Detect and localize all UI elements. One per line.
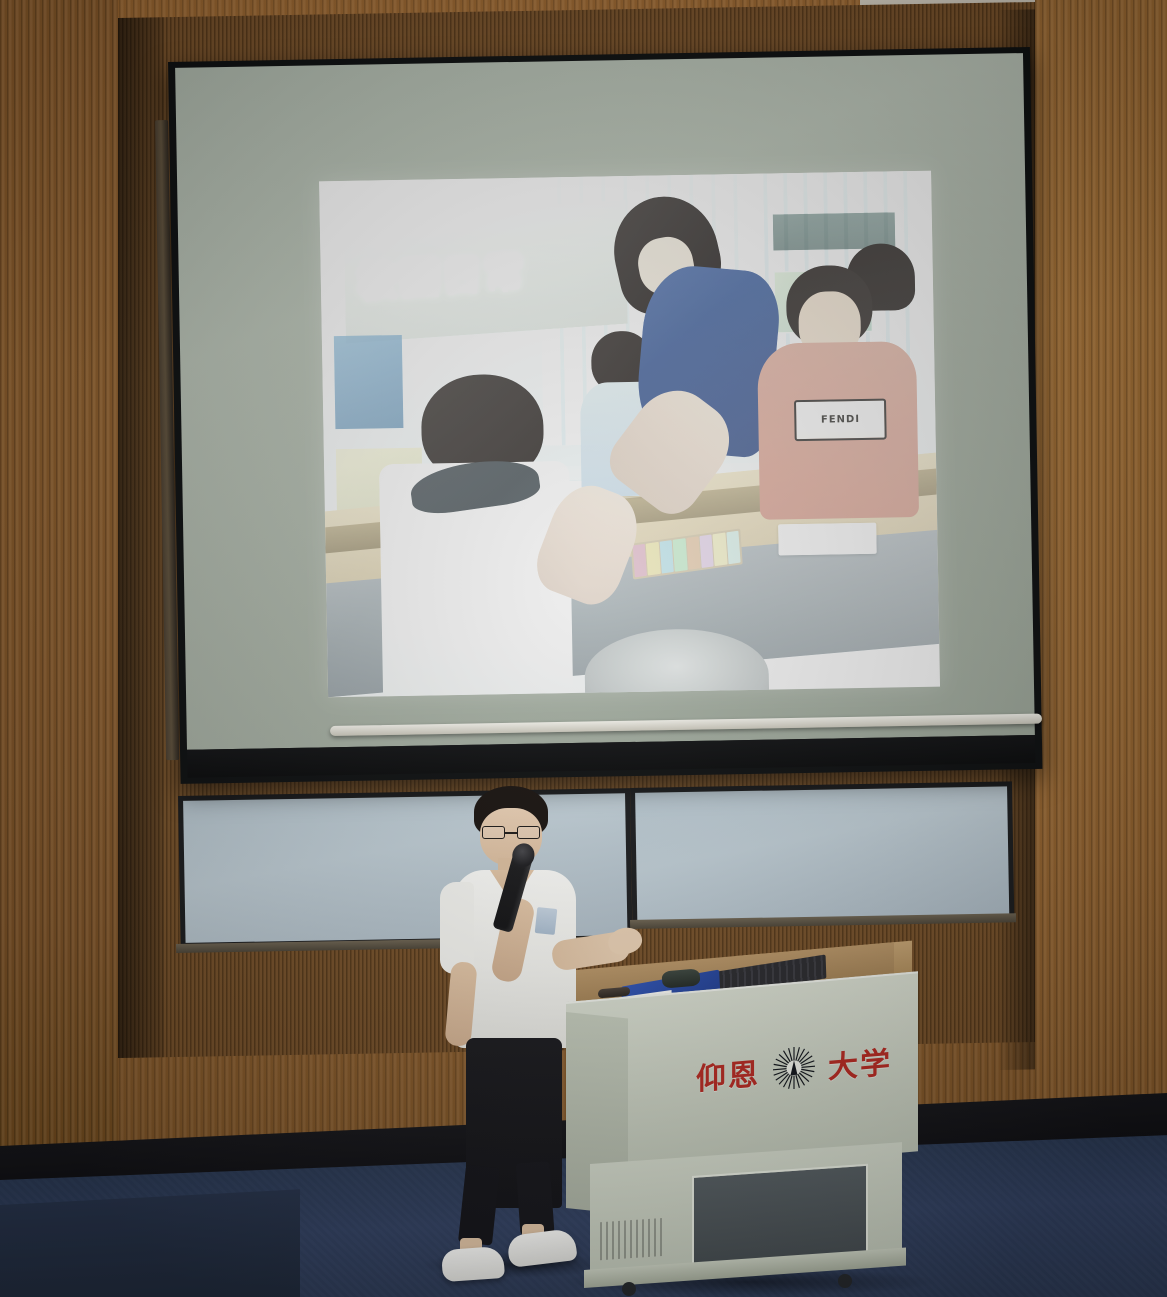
presenter-shoe-left [441,1246,505,1282]
podium: 仰恩 [566,952,918,1297]
screen-surface: 校园日常 [175,53,1035,750]
presenter-sleeve-left [440,882,474,974]
projection-screen: 校园日常 [168,47,1042,784]
university-name-left: 仰恩 [696,1049,760,1099]
whiteboard-right [630,781,1014,926]
wall-right-return [1035,0,1167,1230]
photo-blue-poster [334,335,403,429]
podium-caster-right [838,1274,852,1288]
presenter-pocket [535,907,558,935]
photo-workbook-right [778,523,876,556]
lecture-hall-photo: 校园日常 [0,0,1167,1297]
podium-vents [600,1218,666,1261]
sunburst-logo-icon [772,1044,816,1092]
projected-photo: 校园日常 [319,171,940,698]
photo-shirt-logo: FENDI [794,399,887,442]
wall-left-return [0,0,118,1230]
university-name-right: 大学 [828,1037,892,1087]
podium-caster-left [622,1282,636,1296]
screen-frame: 校园日常 [168,47,1042,784]
whiteboard-right-surface [635,786,1009,920]
glasses-icon [482,826,540,839]
floor-step [0,1189,300,1297]
presenter-leg-left [458,1164,500,1245]
photo-caption-calligraphy: 校园日常 [357,211,616,332]
